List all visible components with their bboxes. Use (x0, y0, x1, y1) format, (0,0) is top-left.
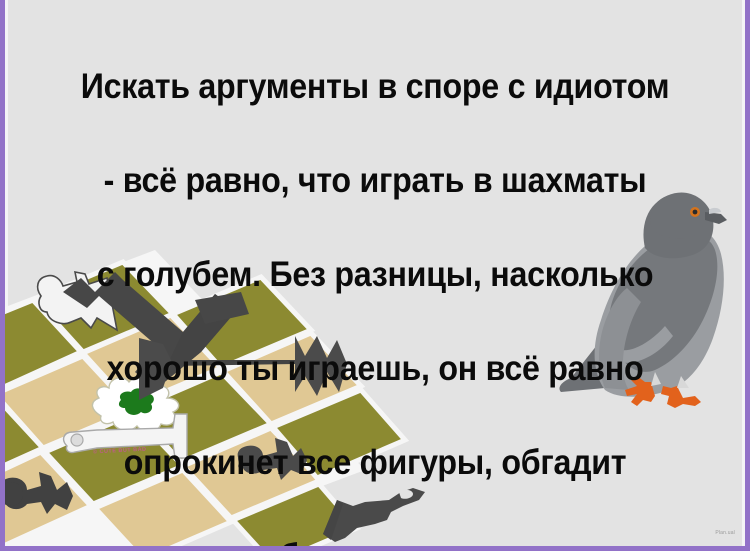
illustration-canvas (5, 0, 745, 546)
pigeon (559, 192, 727, 408)
pigeon-eye-pupil (693, 210, 698, 215)
dark-knight-bottom-piece (323, 488, 425, 542)
meme-image: Искать аргументы в споре с идиотом - всё… (0, 0, 750, 551)
corner-watermark: Plan.ual (715, 530, 735, 536)
pigeon-cere (709, 208, 721, 214)
